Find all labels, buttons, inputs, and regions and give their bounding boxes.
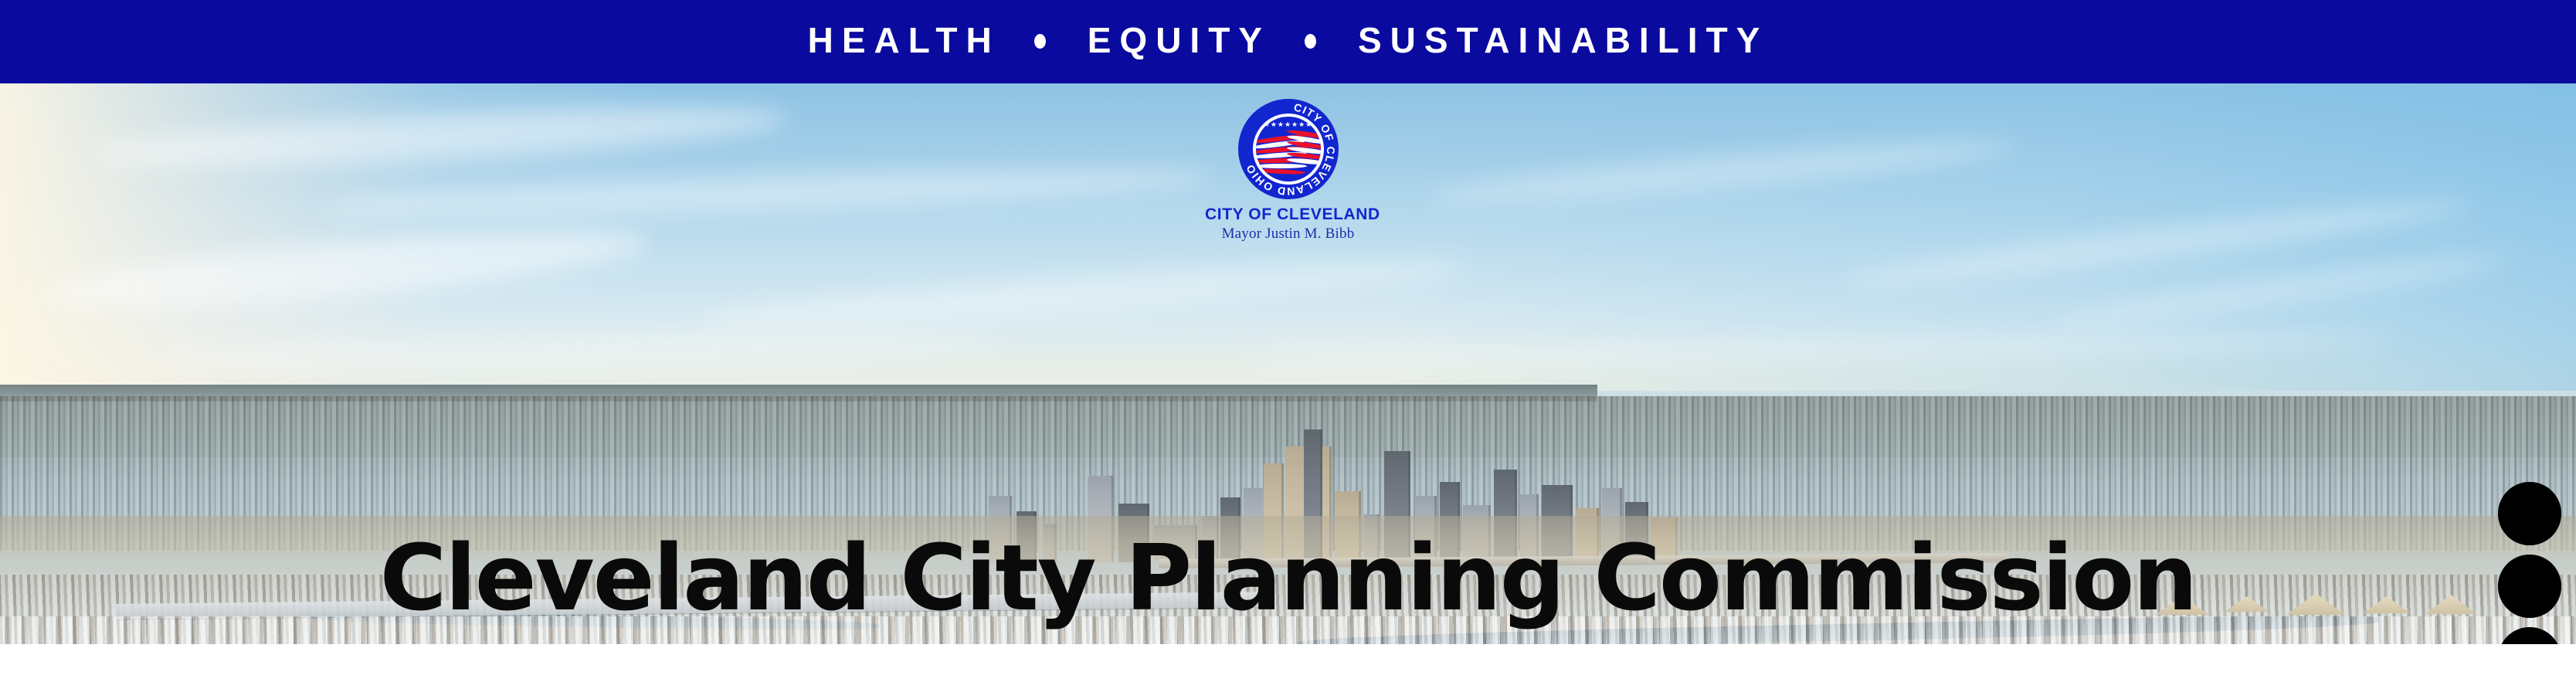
mayor-name-label: Mayor Justin M. Bibb: [1205, 226, 1371, 243]
city-logo-block: CITY OF CLEVELAND OHIO ★★★★★★★: [1205, 99, 1371, 243]
tagline-word-equity: EQUITY: [1088, 22, 1271, 58]
hero-photo: CITY OF CLEVELAND OHIO ★★★★★★★: [0, 83, 2576, 644]
youtube-icon[interactable]: [2498, 482, 2561, 545]
tagline-bar: HEALTH EQUITY SUSTAINABILITY: [0, 0, 2576, 83]
tagline-word-health: HEALTH: [808, 22, 1000, 58]
seal-stars: ★★★★★★★: [1256, 121, 1321, 128]
bottom-white-strip: [0, 644, 2576, 682]
facebook-icon[interactable]: [2498, 627, 2561, 644]
snowy-rooftops: [0, 616, 2576, 644]
bullet-dot-icon: [1305, 34, 1316, 49]
sky-blue-tint: [1391, 83, 2576, 416]
city-of-cleveland-seal-icon: CITY OF CLEVELAND OHIO ★★★★★★★: [1238, 99, 1339, 199]
instagram-icon[interactable]: [2498, 555, 2561, 618]
site-header-banner: HEALTH EQUITY SUSTAINABILITY: [0, 0, 2576, 682]
social-links-rail: [2498, 482, 2561, 644]
tagline-inner: HEALTH EQUITY SUSTAINABILITY: [808, 22, 1769, 58]
tagline-word-sustainability: SUSTAINABILITY: [1358, 22, 1768, 58]
seal-flag-field: ★★★★★★★: [1256, 117, 1321, 182]
bullet-dot-icon: [1034, 34, 1046, 49]
city-name-label: CITY OF CLEVELAND: [1205, 206, 1371, 223]
